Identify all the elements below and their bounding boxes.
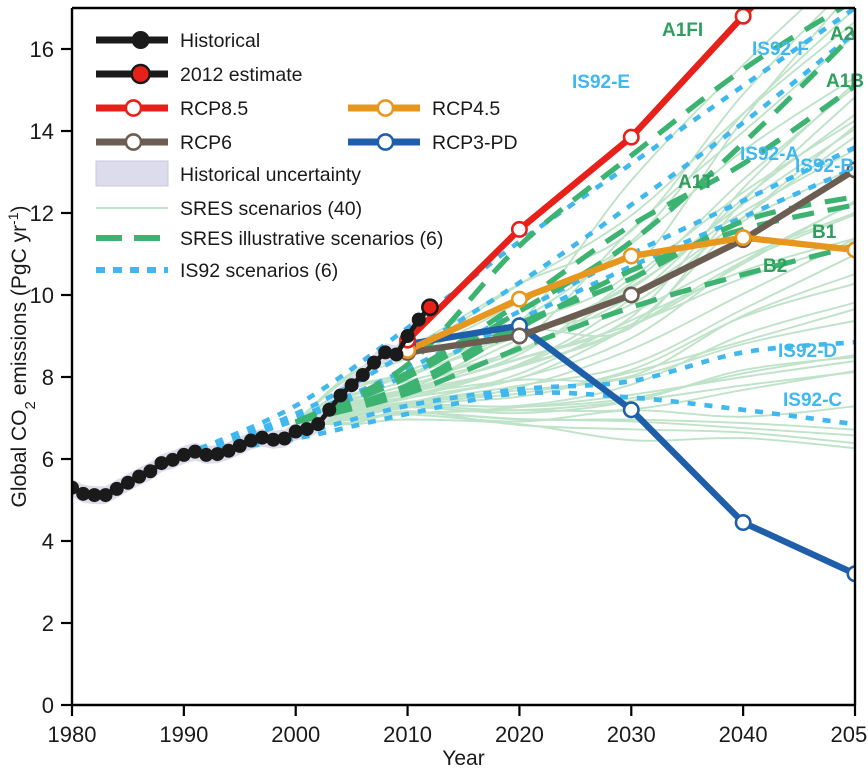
x-tick-label: 1990 xyxy=(159,722,208,747)
rcp-marker xyxy=(736,515,750,529)
historical-marker xyxy=(311,417,325,431)
legend-marker xyxy=(126,100,141,115)
rcp-marker xyxy=(512,222,526,236)
legend-marker xyxy=(126,134,141,149)
legend-marker xyxy=(132,65,150,83)
annotation-a1b: A1B xyxy=(826,71,864,92)
rcp-marker xyxy=(512,329,526,343)
legend-label: RCP4.5 xyxy=(432,98,500,120)
figure-root: A1FIA2IS92-FA1BIS92-EIS92-AIS92-BA1TB1B2… xyxy=(0,0,868,772)
rcp-marker xyxy=(624,249,638,263)
rcp-marker xyxy=(624,130,638,144)
historical-marker xyxy=(401,329,415,343)
x-axis-title: Year xyxy=(442,747,484,770)
x-tick-label: 2050 xyxy=(831,722,868,747)
legend-marker xyxy=(378,134,393,149)
annotation-is92-c: IS92-C xyxy=(783,390,842,411)
legend-label: RCP3-PD xyxy=(432,132,518,154)
annotation-is92-d: IS92-D xyxy=(778,341,837,362)
x-tick-label: 1980 xyxy=(48,722,97,747)
annotation-a1fi: A1FI xyxy=(662,20,703,41)
historical-marker xyxy=(367,356,381,370)
legend-swatch xyxy=(96,161,168,186)
legend-marker xyxy=(378,100,393,115)
y-tick-label: 8 xyxy=(42,365,54,390)
historical-marker xyxy=(412,313,426,327)
historical-marker xyxy=(143,464,157,478)
rcp-marker xyxy=(736,230,750,244)
historical-marker xyxy=(356,368,370,382)
y-tick-label: 4 xyxy=(42,529,54,554)
legend-label: RCP6 xyxy=(180,132,232,154)
annotation-is92-e: IS92-E xyxy=(572,72,630,93)
y-tick-label: 0 xyxy=(42,693,54,718)
y-tick-label: 12 xyxy=(30,201,54,226)
historical-marker xyxy=(322,403,336,417)
y-tick-label: 6 xyxy=(42,447,54,472)
legend-label: Historical xyxy=(180,30,260,52)
annotation-is92-f: IS92-F xyxy=(752,39,809,60)
x-tick-label: 2020 xyxy=(495,722,544,747)
x-tick-label: 2000 xyxy=(271,722,320,747)
co2-emissions-chart: A1FIA2IS92-FA1BIS92-EIS92-AIS92-BA1TB1B2… xyxy=(0,0,868,772)
annotation-b1: B1 xyxy=(812,222,837,243)
annotation-is92-a: IS92-A xyxy=(740,144,799,165)
legend-label: Historical uncertainty xyxy=(180,164,361,186)
annotation-b2: B2 xyxy=(763,256,787,277)
estimate-2012-marker xyxy=(422,300,437,315)
legend-marker xyxy=(132,31,150,49)
annotation-a2: A2 xyxy=(830,24,854,45)
annotation-is92-b: IS92-B xyxy=(795,156,854,177)
legend-label: SRES scenarios (40) xyxy=(180,198,362,220)
y-tick-label: 2 xyxy=(42,611,54,636)
rcp-marker xyxy=(736,9,750,23)
y-tick-label: 14 xyxy=(30,119,54,144)
legend-label: SRES illustrative scenarios (6) xyxy=(180,228,443,250)
legend-label: IS92 scenarios (6) xyxy=(180,260,338,282)
historical-marker xyxy=(333,388,347,402)
historical-marker xyxy=(389,347,403,361)
x-tick-label: 2040 xyxy=(719,722,768,747)
legend-label: RCP8.5 xyxy=(180,98,248,120)
y-tick-label: 10 xyxy=(30,283,54,308)
legend-key-historical-uncertainty xyxy=(96,161,168,186)
legend-label: 2012 estimate xyxy=(180,64,303,86)
x-tick-label: 2010 xyxy=(383,722,432,747)
x-tick-label: 2030 xyxy=(607,722,656,747)
annotation-a1t: A1T xyxy=(678,172,714,193)
historical-marker xyxy=(345,378,359,392)
rcp-marker xyxy=(624,288,638,302)
y-tick-label: 16 xyxy=(30,37,54,62)
rcp-marker xyxy=(624,403,638,417)
rcp-marker xyxy=(512,292,526,306)
